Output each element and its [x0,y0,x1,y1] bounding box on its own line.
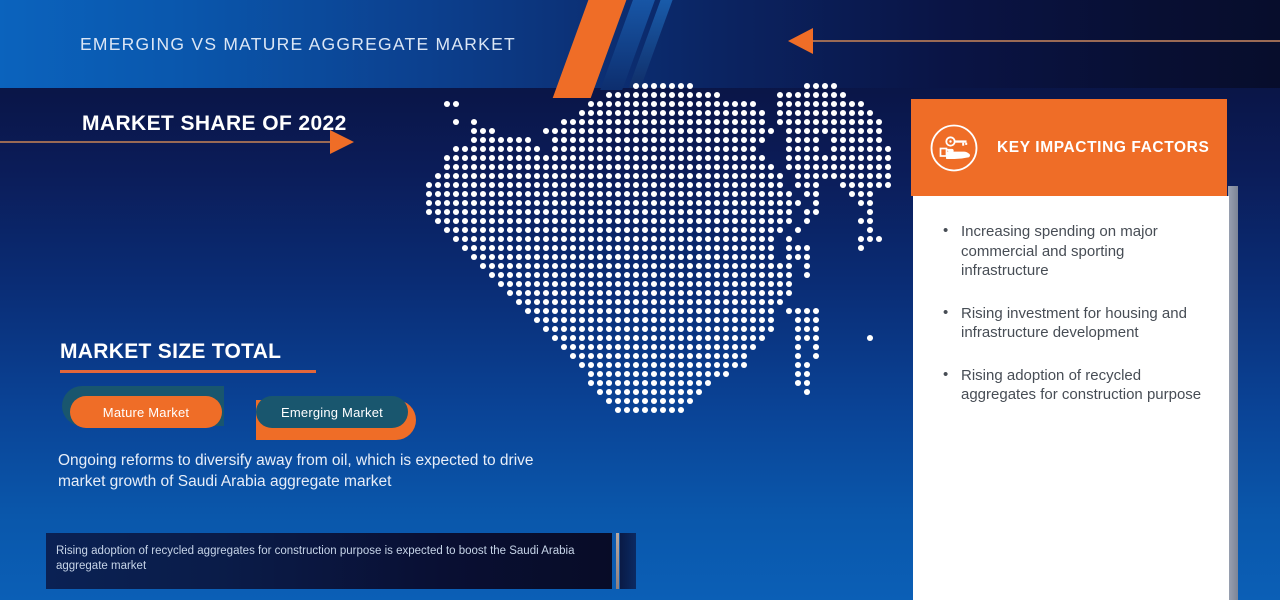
hand-holding-key-icon [929,123,979,173]
key-factors-panel-shadow [1228,186,1238,600]
bottom-banner-tail [620,533,636,589]
market-size-title: MARKET SIZE TOTAL [60,340,281,364]
legend-label-emerging: Emerging Market [281,405,383,420]
list-item: Rising investment for housing and infras… [943,304,1211,343]
key-factors-card: Increasing spending on major commercial … [913,196,1229,600]
bottom-banner-divider [616,533,619,589]
arrow-left-icon [788,28,813,54]
key-factors-title: KEY IMPACTING FACTORS [997,139,1209,157]
bottom-banner: Rising adoption of recycled aggregates f… [46,533,612,589]
legend-group: Mature Market Emerging Market [60,386,460,438]
list-item: Rising adoption of recycled aggregates f… [943,366,1211,405]
list-item: Increasing spending on major commercial … [943,222,1211,281]
page-title: EMERGING VS MATURE AGGREGATE MARKET [80,34,516,55]
infographic-slide: EMERGING VS MATURE AGGREGATE MARKET MARK… [0,0,1280,600]
market-size-description: Ongoing reforms to diversify away from o… [58,450,578,492]
legend-item-mature-market[interactable]: Mature Market [70,396,222,428]
legend-item-emerging-market[interactable]: Emerging Market [256,396,408,428]
header-arrow-line [812,40,1280,42]
market-share-title: MARKET SHARE OF 2022 [82,112,347,136]
key-factors-list: Increasing spending on major commercial … [943,222,1211,405]
arrow-right-icon [330,130,354,154]
key-factors-header: KEY IMPACTING FACTORS [911,99,1227,196]
bottom-banner-text: Rising adoption of recycled aggregates f… [56,544,604,574]
market-share-arrow-line [0,141,332,143]
market-size-underline [60,370,316,373]
legend-label-mature: Mature Market [103,405,189,420]
dotted-world-map [425,82,905,502]
